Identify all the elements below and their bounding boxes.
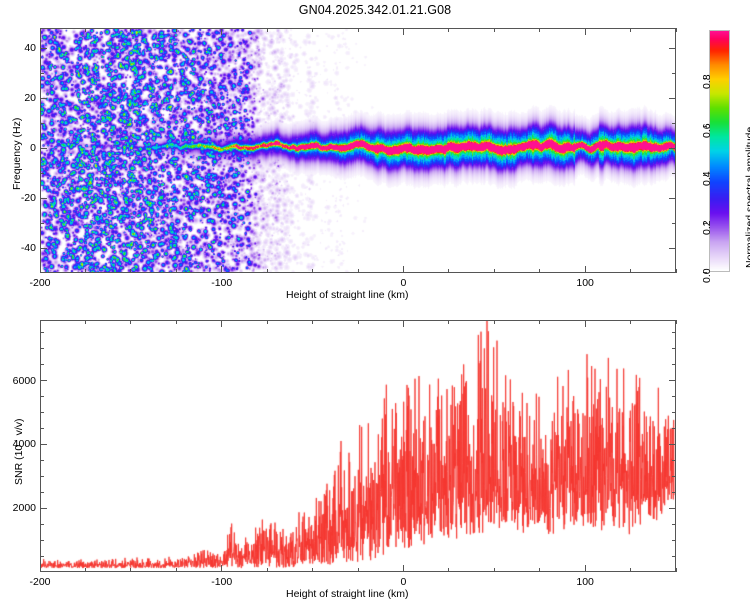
- axis-minor-tick-x: [312, 28, 313, 32]
- axis-minor-tick-x: [676, 568, 677, 572]
- axis-tick-y: [40, 48, 47, 49]
- spectrogram-image: [41, 29, 675, 272]
- axis-minor-tick-y: [672, 556, 676, 557]
- axis-tick-label-y: 20: [2, 92, 36, 104]
- axis-minor-tick-x: [358, 269, 359, 273]
- axis-minor-tick-y: [40, 364, 44, 365]
- axis-minor-tick-x: [312, 320, 313, 324]
- axis-minor-tick-x: [539, 28, 540, 32]
- axis-minor-tick-y: [672, 364, 676, 365]
- figure-title: GN04.2025.342.01.21.G08: [0, 3, 750, 17]
- axis-tick-x: [403, 565, 404, 572]
- axis-minor-tick-y: [40, 556, 44, 557]
- axis-minor-tick-x: [630, 269, 631, 273]
- axis-minor-tick-x: [494, 320, 495, 324]
- axis-minor-tick-y: [672, 524, 676, 525]
- axis-tick-x: [221, 565, 222, 572]
- axis-tick-x: [403, 28, 404, 35]
- axis-minor-tick-x: [676, 269, 677, 273]
- axis-tick-y: [669, 444, 676, 445]
- axis-tick-x: [585, 28, 586, 35]
- axis-minor-tick-y: [672, 123, 676, 124]
- axis-minor-tick-x: [85, 568, 86, 572]
- axis-minor-tick-y: [40, 492, 44, 493]
- axis-tick-y: [669, 248, 676, 249]
- axis-tick-label-y: 2000: [2, 502, 36, 514]
- axis-tick-label-y: -40: [2, 242, 36, 254]
- axis-tick-x: [40, 28, 41, 35]
- axis-tick-x: [221, 28, 222, 35]
- axis-tick-y: [669, 380, 676, 381]
- axis-minor-tick-x: [176, 320, 177, 324]
- axis-minor-tick-y: [40, 412, 44, 413]
- figure-root: GN04.2025.342.01.21.G08 -200-1000100-40-…: [0, 0, 750, 600]
- axis-tick-label-x: -200: [29, 576, 50, 588]
- axis-minor-tick-x: [358, 568, 359, 572]
- axis-minor-tick-y: [40, 428, 44, 429]
- axis-tick-y: [40, 508, 47, 509]
- axis-minor-tick-y: [672, 428, 676, 429]
- axis-minor-tick-y: [40, 348, 44, 349]
- colorbar-tick-label: 0.2: [701, 220, 713, 235]
- axis-minor-tick-y: [672, 412, 676, 413]
- axis-tick-y: [40, 248, 47, 249]
- axis-minor-tick-x: [267, 28, 268, 32]
- axis-tick-y: [669, 198, 676, 199]
- axis-tick-y: [669, 48, 676, 49]
- axis-minor-tick-x: [494, 568, 495, 572]
- snr-y-axis-label: SNR (10 ˙ v/v): [13, 418, 25, 485]
- snr-panel: [40, 320, 676, 572]
- axis-minor-tick-x: [448, 568, 449, 572]
- axis-tick-x: [403, 320, 404, 327]
- axis-minor-tick-x: [176, 28, 177, 32]
- colorbar-tick-label: 0.8: [701, 75, 713, 90]
- axis-tick-label-y: 6000: [2, 375, 36, 387]
- axis-minor-tick-y: [40, 460, 44, 461]
- axis-tick-x: [40, 266, 41, 273]
- axis-minor-tick-y: [40, 476, 44, 477]
- axis-minor-tick-x: [630, 28, 631, 32]
- axis-minor-tick-y: [672, 540, 676, 541]
- axis-minor-tick-x: [85, 320, 86, 324]
- axis-minor-tick-y: [672, 460, 676, 461]
- axis-tick-label-x: 100: [576, 576, 594, 588]
- axis-minor-tick-x: [630, 568, 631, 572]
- axis-minor-tick-y: [40, 540, 44, 541]
- axis-minor-tick-x: [176, 269, 177, 273]
- axis-tick-label-x: 0: [401, 277, 407, 289]
- axis-minor-tick-x: [448, 28, 449, 32]
- axis-minor-tick-y: [672, 396, 676, 397]
- spectrogram-panel: [40, 28, 676, 273]
- axis-minor-tick-y: [672, 348, 676, 349]
- axis-minor-tick-x: [358, 320, 359, 324]
- axis-tick-x: [585, 266, 586, 273]
- colorbar-tick-label: 0.0: [701, 268, 713, 283]
- axis-tick-y: [669, 148, 676, 149]
- axis-tick-y: [40, 380, 47, 381]
- axis-tick-x: [403, 266, 404, 273]
- axis-minor-tick-y: [40, 223, 44, 224]
- axis-minor-tick-x: [176, 568, 177, 572]
- snr-trace-plot: [41, 321, 675, 571]
- axis-minor-tick-x: [267, 320, 268, 324]
- axis-tick-x: [585, 320, 586, 327]
- axis-tick-label-y: -20: [2, 192, 36, 204]
- axis-minor-tick-y: [40, 73, 44, 74]
- axis-tick-label-x: -200: [29, 277, 50, 289]
- axis-minor-tick-y: [40, 332, 44, 333]
- axis-minor-tick-x: [85, 269, 86, 273]
- axis-tick-label-x: 0: [401, 576, 407, 588]
- axis-tick-x: [585, 565, 586, 572]
- axis-minor-tick-x: [85, 28, 86, 32]
- spectrogram-y-axis-label: Frequency (Hz): [11, 118, 23, 190]
- axis-minor-tick-x: [267, 269, 268, 273]
- axis-tick-x: [221, 266, 222, 273]
- axis-minor-tick-y: [672, 492, 676, 493]
- snr-x-axis-label: Height of straight line (km): [286, 588, 409, 600]
- axis-tick-x: [40, 565, 41, 572]
- axis-minor-tick-y: [672, 73, 676, 74]
- axis-minor-tick-y: [672, 173, 676, 174]
- spectrogram-x-axis-label: Height of straight line (km): [286, 289, 409, 301]
- axis-minor-tick-x: [130, 320, 131, 324]
- axis-minor-tick-x: [539, 568, 540, 572]
- axis-tick-label-x: 100: [576, 277, 594, 289]
- axis-tick-label-y: 40: [2, 42, 36, 54]
- axis-minor-tick-y: [672, 223, 676, 224]
- axis-minor-tick-x: [267, 568, 268, 572]
- axis-tick-x: [40, 320, 41, 327]
- axis-minor-tick-x: [358, 28, 359, 32]
- axis-minor-tick-x: [494, 269, 495, 273]
- axis-minor-tick-x: [676, 28, 677, 32]
- axis-minor-tick-x: [494, 28, 495, 32]
- axis-tick-y: [669, 508, 676, 509]
- axis-tick-y: [40, 198, 47, 199]
- colorbar-gradient: [710, 31, 729, 271]
- axis-minor-tick-y: [672, 332, 676, 333]
- axis-minor-tick-x: [312, 269, 313, 273]
- axis-tick-label-x: -100: [211, 277, 232, 289]
- axis-tick-y: [40, 444, 47, 445]
- axis-minor-tick-y: [40, 396, 44, 397]
- axis-minor-tick-x: [539, 320, 540, 324]
- axis-minor-tick-x: [539, 269, 540, 273]
- axis-minor-tick-x: [130, 568, 131, 572]
- axis-tick-label-x: -100: [211, 576, 232, 588]
- axis-minor-tick-y: [672, 476, 676, 477]
- axis-minor-tick-x: [448, 269, 449, 273]
- colorbar: [709, 30, 730, 272]
- axis-tick-x: [221, 320, 222, 327]
- axis-minor-tick-y: [40, 123, 44, 124]
- axis-tick-y: [40, 98, 47, 99]
- axis-minor-tick-y: [40, 173, 44, 174]
- colorbar-title: Normalized spectral amplitude: [744, 127, 750, 268]
- axis-minor-tick-y: [40, 524, 44, 525]
- axis-minor-tick-x: [130, 269, 131, 273]
- colorbar-tick-label: 0.6: [701, 123, 713, 138]
- axis-tick-y: [669, 98, 676, 99]
- axis-tick-y: [40, 148, 47, 149]
- axis-minor-tick-x: [312, 568, 313, 572]
- colorbar-tick-label: 0.4: [701, 172, 713, 187]
- axis-minor-tick-x: [676, 320, 677, 324]
- axis-minor-tick-x: [630, 320, 631, 324]
- axis-minor-tick-x: [448, 320, 449, 324]
- axis-minor-tick-x: [130, 28, 131, 32]
